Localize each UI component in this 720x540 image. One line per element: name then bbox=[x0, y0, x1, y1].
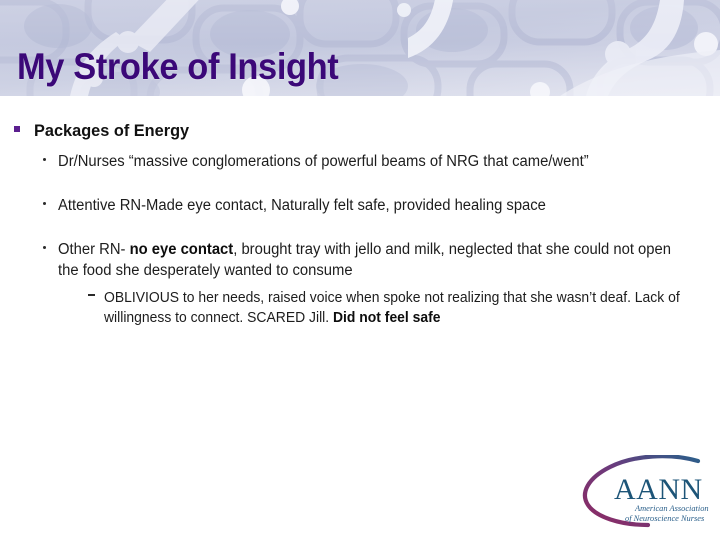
bullet-text-emphasis: Did not feel safe bbox=[333, 310, 441, 326]
bullet-text: Dr/Nurses “massive conglomerations of po… bbox=[58, 151, 684, 172]
page-title: My Stroke of Insight bbox=[17, 46, 338, 88]
list-item: Packages of Energy bbox=[14, 120, 714, 142]
slide-header-banner: My Stroke of Insight bbox=[0, 0, 720, 96]
aann-acronym: AANN bbox=[614, 473, 703, 506]
bullet-text: OBLIVIOUS to her needs, raised voice whe… bbox=[104, 288, 690, 328]
dot-bullet-icon bbox=[40, 151, 58, 161]
list-item: Other RN- no eye contact, brought tray w… bbox=[14, 239, 714, 281]
bullet-text: Other RN- no eye contact, brought tray w… bbox=[58, 239, 684, 281]
aann-tagline-line1: American Association bbox=[634, 504, 709, 513]
dash-bullet-icon bbox=[88, 288, 104, 296]
spacer bbox=[14, 220, 714, 239]
bullet-list: Packages of Energy Dr/Nurses “massive co… bbox=[14, 120, 714, 328]
dot-bullet-icon bbox=[40, 239, 58, 249]
list-item: Attentive RN-Made eye contact, Naturally… bbox=[14, 195, 714, 216]
list-item: OBLIVIOUS to her needs, raised voice whe… bbox=[14, 288, 714, 328]
aann-tagline-line2: of Neuroscience Nurses bbox=[625, 514, 704, 523]
bullet-text-lead: Other RN- bbox=[58, 241, 130, 258]
spacer bbox=[14, 176, 714, 195]
bullet-text-emphasis: no eye contact bbox=[130, 241, 234, 258]
aann-logo: AANN American Association of Neuroscienc… bbox=[578, 455, 714, 531]
square-bullet-icon bbox=[14, 120, 34, 132]
dot-bullet-icon bbox=[40, 195, 58, 205]
slide: My Stroke of Insight Packages of Energy … bbox=[0, 0, 720, 540]
list-item: Dr/Nurses “massive conglomerations of po… bbox=[14, 151, 714, 172]
bullet-text: Attentive RN-Made eye contact, Naturally… bbox=[58, 195, 684, 216]
bullet-text: Packages of Energy bbox=[34, 120, 687, 142]
aann-logo-graphic: AANN American Association of Neuroscienc… bbox=[578, 455, 714, 531]
